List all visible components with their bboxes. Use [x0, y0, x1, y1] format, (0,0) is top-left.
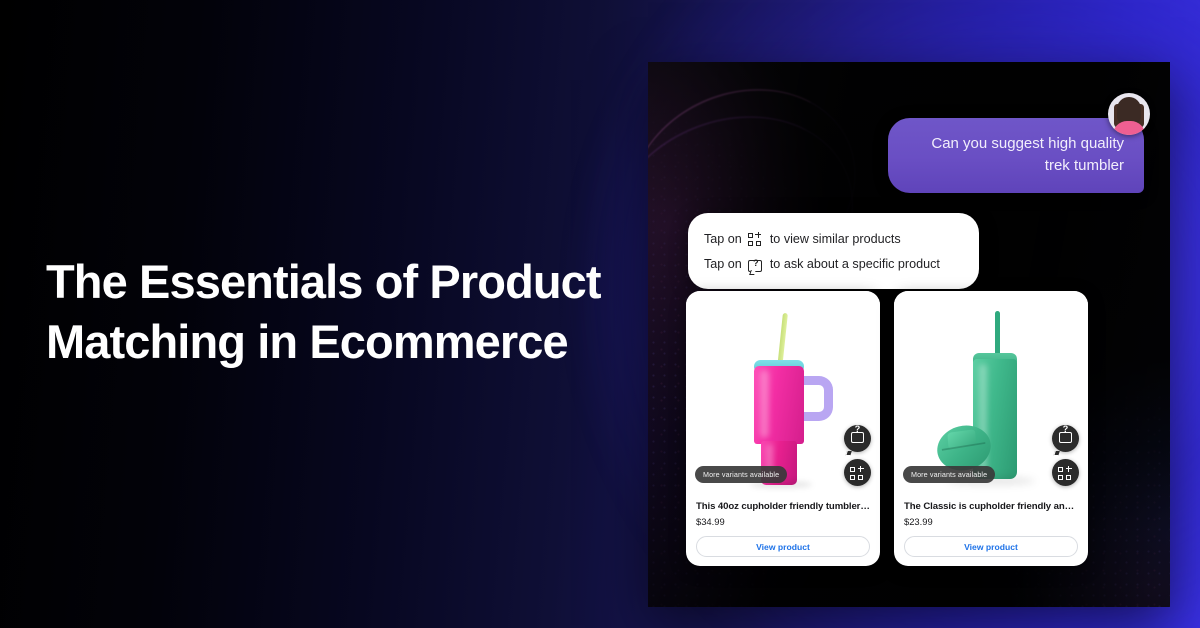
avatar	[1108, 93, 1150, 135]
grid-plus-icon	[748, 232, 764, 247]
product-card-body: The Classic is cupholder friendly and wi…	[894, 493, 1088, 566]
view-similar-products-button[interactable]	[844, 459, 871, 486]
product-title: This 40oz cupholder friendly tumbler w..…	[696, 501, 870, 512]
product-image-green: More variants available ?	[894, 291, 1088, 493]
chat-question-icon-wrap: ?	[748, 256, 764, 271]
user-chat-bubble: Can you suggest high quality trek tumble…	[888, 118, 1144, 193]
hint-row-similar: Tap on to view similar products	[704, 227, 963, 252]
product-card-list: More variants available ?	[686, 291, 1088, 566]
chat-question-icon: ?	[748, 260, 762, 272]
app-screenshot-panel: Can you suggest high quality trek tumble…	[648, 62, 1170, 607]
headline-line-2: Matching in Ecommerce	[46, 312, 626, 372]
chat-question-icon: ?	[1059, 432, 1072, 443]
card-action-buttons: ?	[844, 425, 871, 486]
product-card[interactable]: More variants available ?	[686, 291, 880, 566]
page-title: The Essentials of Product Matching in Ec…	[46, 252, 626, 371]
product-price: $23.99	[904, 516, 1078, 527]
ask-about-product-button[interactable]: ?	[844, 425, 871, 452]
view-product-button[interactable]: View product	[904, 536, 1078, 557]
grid-plus-icon	[850, 466, 865, 480]
headline-line-1: The Essentials of Product	[46, 252, 626, 312]
product-card-body: This 40oz cupholder friendly tumbler w..…	[686, 493, 880, 566]
green-tumbler-illustration	[931, 311, 1051, 483]
product-title: The Classic is cupholder friendly and wi…	[904, 501, 1078, 512]
variants-badge: More variants available	[695, 466, 787, 483]
chat-question-icon: ?	[851, 432, 864, 443]
hint-tooltip: Tap on to view similar products Tap on ?…	[688, 213, 979, 289]
hint-row-ask: Tap on ? to ask about a specific product	[704, 252, 963, 277]
question-glyph: ?	[748, 255, 764, 273]
hint-prefix: Tap on	[704, 227, 742, 252]
hint-suffix: to ask about a specific product	[770, 252, 940, 277]
ask-about-product-button[interactable]: ?	[1052, 425, 1079, 452]
variants-badge: More variants available	[903, 466, 995, 483]
view-similar-products-button[interactable]	[1052, 459, 1079, 486]
pink-tumbler-illustration	[728, 313, 838, 481]
product-image-pink: More variants available ?	[686, 291, 880, 493]
hint-prefix: Tap on	[704, 252, 742, 277]
card-action-buttons: ?	[1052, 425, 1079, 486]
grid-plus-icon	[1058, 466, 1073, 480]
view-product-button[interactable]: View product	[696, 536, 870, 557]
product-card[interactable]: More variants available ?	[894, 291, 1088, 566]
hint-suffix: to view similar products	[770, 227, 901, 252]
product-price: $34.99	[696, 516, 870, 527]
